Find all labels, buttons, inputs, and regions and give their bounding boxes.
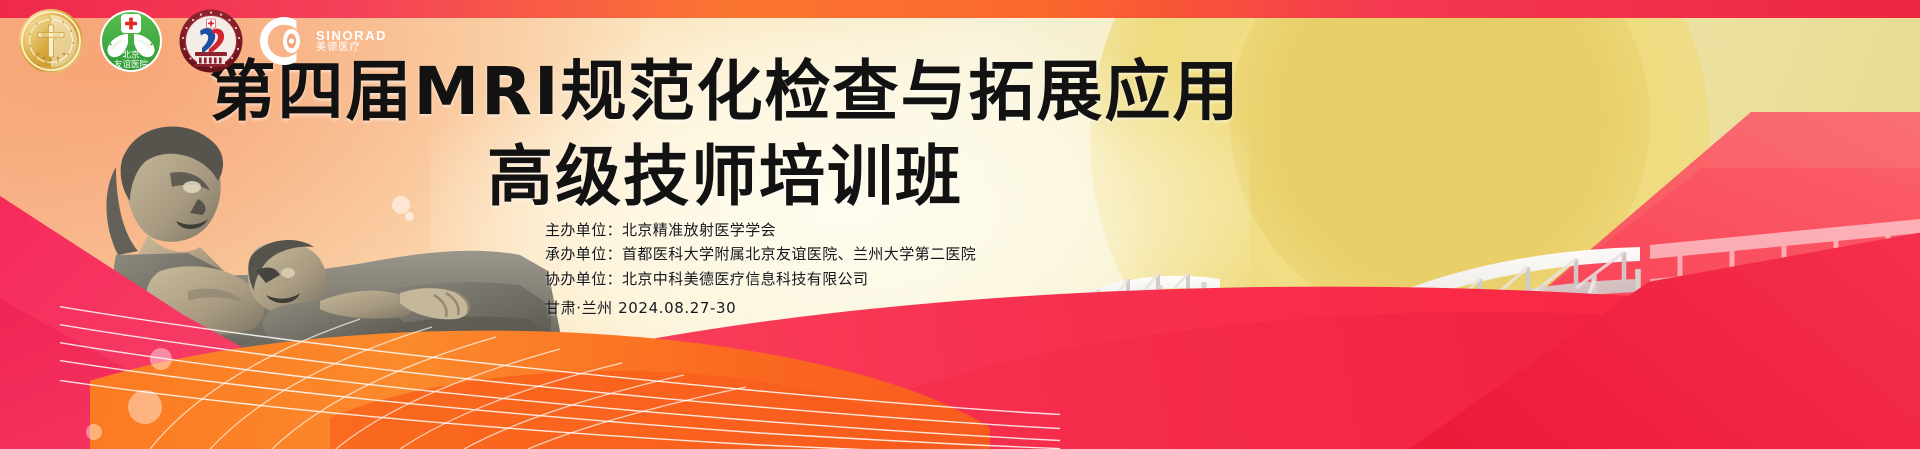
friendship-hospital-cn-line-2: 友谊医院 <box>114 59 149 70</box>
friendship-hospital-cn-line-1: 北京 <box>122 50 139 61</box>
sinorad-logo: SINORAD 美德医疗 <box>258 15 387 67</box>
beijing-precision-radiology-society-logo <box>18 8 84 74</box>
logo-bar: 北京 友谊医院 <box>18 8 387 74</box>
beijing-friendship-hospital-logo: 北京 友谊医院 <box>98 8 164 74</box>
organizer-info-block: 主办单位：北京精准放射医学学会 承办单位：首都医科大学附属北京友谊医院、兰州大学… <box>545 218 976 320</box>
organizer-row-undertaker: 承办单位：首都医科大学附属北京友谊医院、兰州大学第二医院 <box>545 242 976 266</box>
decor-dot <box>405 212 414 221</box>
decor-dot <box>128 390 162 424</box>
decor-dot <box>86 424 102 440</box>
lanzhou-university-second-hospital-logo <box>178 8 244 74</box>
sinorad-en-text: SINORAD <box>316 29 387 43</box>
banner-title: 第四届MRI规范化检查与拓展应用 高级技师培训班 <box>0 56 1450 213</box>
place-and-date: 甘肃·兰州 2024.08.27-30 <box>545 296 976 320</box>
organizer-row-host: 主办单位：北京精准放射医学学会 <box>545 218 976 242</box>
sinorad-cn-text: 美德医疗 <box>316 43 387 54</box>
decor-dot <box>150 348 172 370</box>
sinorad-mark-icon <box>258 15 310 67</box>
organizer-row-coorganizer: 协办单位：北京中科美德医疗信息科技有限公司 <box>545 267 976 291</box>
title-line-2: 高级技师培训班 <box>0 141 1450 212</box>
conference-banner: 北京 友谊医院 <box>0 0 1920 449</box>
